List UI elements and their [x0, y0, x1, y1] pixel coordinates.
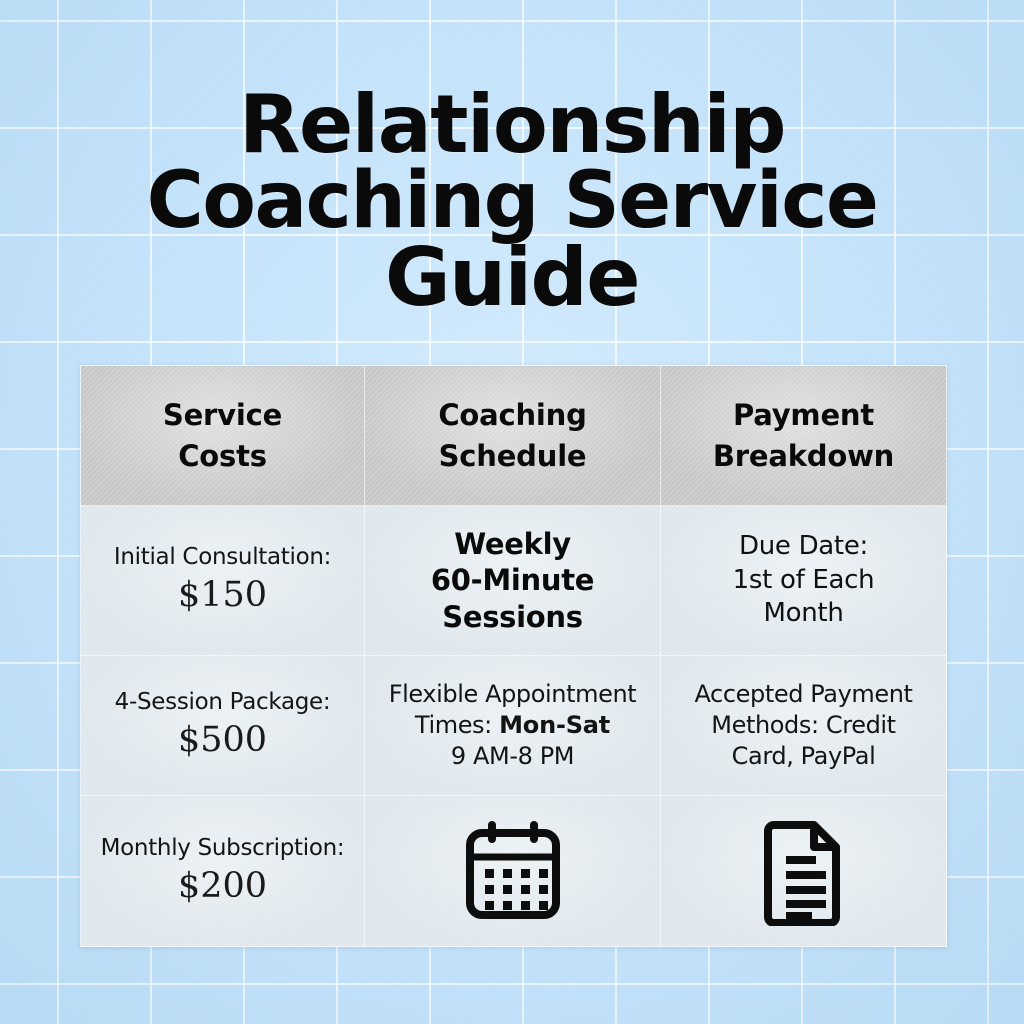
- column-header-coaching-schedule: Coaching Schedule: [365, 366, 661, 506]
- payment-breakdown-line-2: Methods: Credit: [673, 710, 934, 741]
- coaching-schedule-line-2-days: Mon-Sat: [499, 711, 610, 739]
- cell-payment-breakdown-1: Due Date: 1st of Each Month: [661, 506, 947, 656]
- cell-service-costs-3: Monthly Subscription: $200: [81, 796, 365, 947]
- service-cost-amount-2: $500: [93, 719, 352, 763]
- cell-service-costs-1: Initial Consultation: $150: [81, 506, 365, 656]
- payment-breakdown-line-3: Card, PayPal: [673, 741, 934, 772]
- page-title-line-1: Relationship: [60, 86, 964, 164]
- column-header-service-costs: Service Costs: [81, 366, 365, 506]
- cell-service-costs-2: 4-Session Package: $500: [81, 656, 365, 796]
- column-header-payment-breakdown: Payment Breakdown: [661, 366, 947, 506]
- column-header-coaching-schedule-line-1: Coaching: [377, 395, 648, 435]
- column-header-service-costs-line-2: Costs: [93, 436, 352, 476]
- coaching-schedule-line-3: Sessions: [377, 599, 648, 636]
- coaching-schedule-line-1: Weekly: [377, 526, 648, 563]
- column-header-service-costs-line-1: Service: [93, 395, 352, 435]
- column-header-payment-breakdown-line-2: Breakdown: [673, 436, 934, 476]
- payment-breakdown-line-3: Month: [673, 597, 934, 631]
- coaching-schedule-line-2: Times: Mon-Sat: [377, 710, 648, 741]
- document-icon: [760, 816, 848, 926]
- table-row: Monthly Subscription: $200: [81, 796, 947, 947]
- payment-breakdown-line-2: 1st of Each: [673, 564, 934, 598]
- coaching-schedule-line-2-prefix: Times:: [415, 711, 492, 739]
- coaching-schedule-line-3: 9 AM-8 PM: [377, 741, 648, 772]
- column-header-coaching-schedule-line-2: Schedule: [377, 436, 648, 476]
- cell-coaching-schedule-2: Flexible Appointment Times: Mon-Sat 9 AM…: [365, 656, 661, 796]
- table-header-row: Service Costs Coaching Schedule Payment …: [81, 366, 947, 506]
- column-header-payment-breakdown-line-1: Payment: [673, 395, 934, 435]
- table-row: Initial Consultation: $150 Weekly 60-Min…: [81, 506, 947, 656]
- service-cost-label-3: Monthly Subscription:: [93, 834, 352, 864]
- service-cost-amount-1: $150: [93, 574, 352, 618]
- cell-payment-breakdown-3: [661, 796, 947, 947]
- page-title: Relationship Coaching Service Guide: [0, 86, 1024, 317]
- cell-payment-breakdown-2: Accepted Payment Methods: Credit Card, P…: [661, 656, 947, 796]
- coaching-schedule-line-1: Flexible Appointment: [377, 679, 648, 710]
- calendar-icon: [462, 819, 564, 923]
- page-title-line-3: Guide: [60, 239, 964, 317]
- cell-coaching-schedule-1: Weekly 60-Minute Sessions: [365, 506, 661, 656]
- service-cost-label-2: 4-Session Package:: [93, 688, 352, 718]
- service-guide-table: Service Costs Coaching Schedule Payment …: [80, 365, 947, 947]
- payment-breakdown-line-1: Accepted Payment: [673, 679, 934, 710]
- coaching-schedule-line-2: 60-Minute: [377, 562, 648, 599]
- service-cost-amount-3: $200: [93, 865, 352, 909]
- cell-coaching-schedule-3: [365, 796, 661, 947]
- table-row: 4-Session Package: $500 Flexible Appoint…: [81, 656, 947, 796]
- service-cost-label-1: Initial Consultation:: [93, 543, 352, 573]
- page-title-line-2: Coaching Service: [60, 164, 964, 240]
- payment-breakdown-line-1: Due Date:: [673, 530, 934, 564]
